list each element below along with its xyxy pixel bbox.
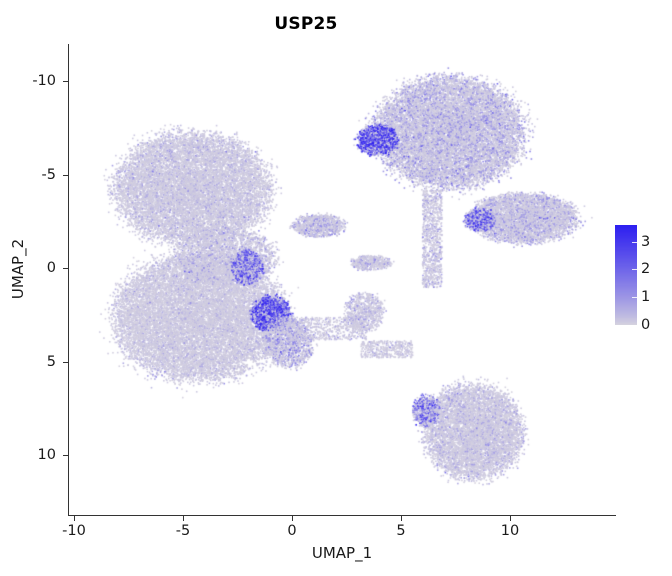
- x-tick-label: -10: [44, 523, 104, 539]
- y-tick-label: 5: [12, 354, 56, 370]
- colorbar-tick-label: 0: [641, 317, 650, 333]
- x-tick-label: 10: [480, 523, 540, 539]
- colorbar-tick-mark: [632, 297, 637, 298]
- colorbar-tick-mark: [632, 325, 637, 326]
- y-tick-label: -5: [12, 167, 56, 183]
- x-tick-mark: [510, 516, 511, 521]
- colorbar-tick-label: 1: [641, 289, 650, 305]
- x-axis-line: [68, 515, 616, 516]
- y-tick-label: -10: [12, 73, 56, 89]
- colorbar-tick-label: 3: [641, 234, 650, 250]
- colorbar-gradient: [615, 225, 637, 325]
- y-axis-line: [68, 44, 69, 516]
- y-tick-mark: [63, 81, 68, 82]
- y-tick-mark: [63, 455, 68, 456]
- colorbar-tick-mark: [632, 242, 637, 243]
- x-tick-label: -5: [153, 523, 213, 539]
- x-tick-mark: [292, 516, 293, 521]
- plot-panel: [68, 44, 616, 515]
- colorbar-tick-label: 2: [641, 261, 650, 277]
- y-tick-mark: [63, 268, 68, 269]
- y-tick-label: 10: [12, 447, 56, 463]
- colorbar-legend: 3210: [614, 222, 672, 334]
- x-tick-label: 0: [262, 523, 322, 539]
- y-axis-title: UMAP_2: [9, 199, 27, 339]
- umap-feature-plot: USP25 1050-5-10 -10-50510 UMAP_1 UMAP_2 …: [0, 0, 672, 576]
- y-tick-mark: [63, 175, 68, 176]
- x-tick-mark: [401, 516, 402, 521]
- y-tick-mark: [63, 362, 68, 363]
- x-tick-label: 5: [371, 523, 431, 539]
- scatter-plot-canvas: [68, 44, 616, 515]
- colorbar-tick-mark: [632, 269, 637, 270]
- x-tick-mark: [183, 516, 184, 521]
- x-tick-mark: [74, 516, 75, 521]
- page-title: USP25: [0, 14, 612, 34]
- x-axis-title: UMAP_1: [68, 544, 616, 562]
